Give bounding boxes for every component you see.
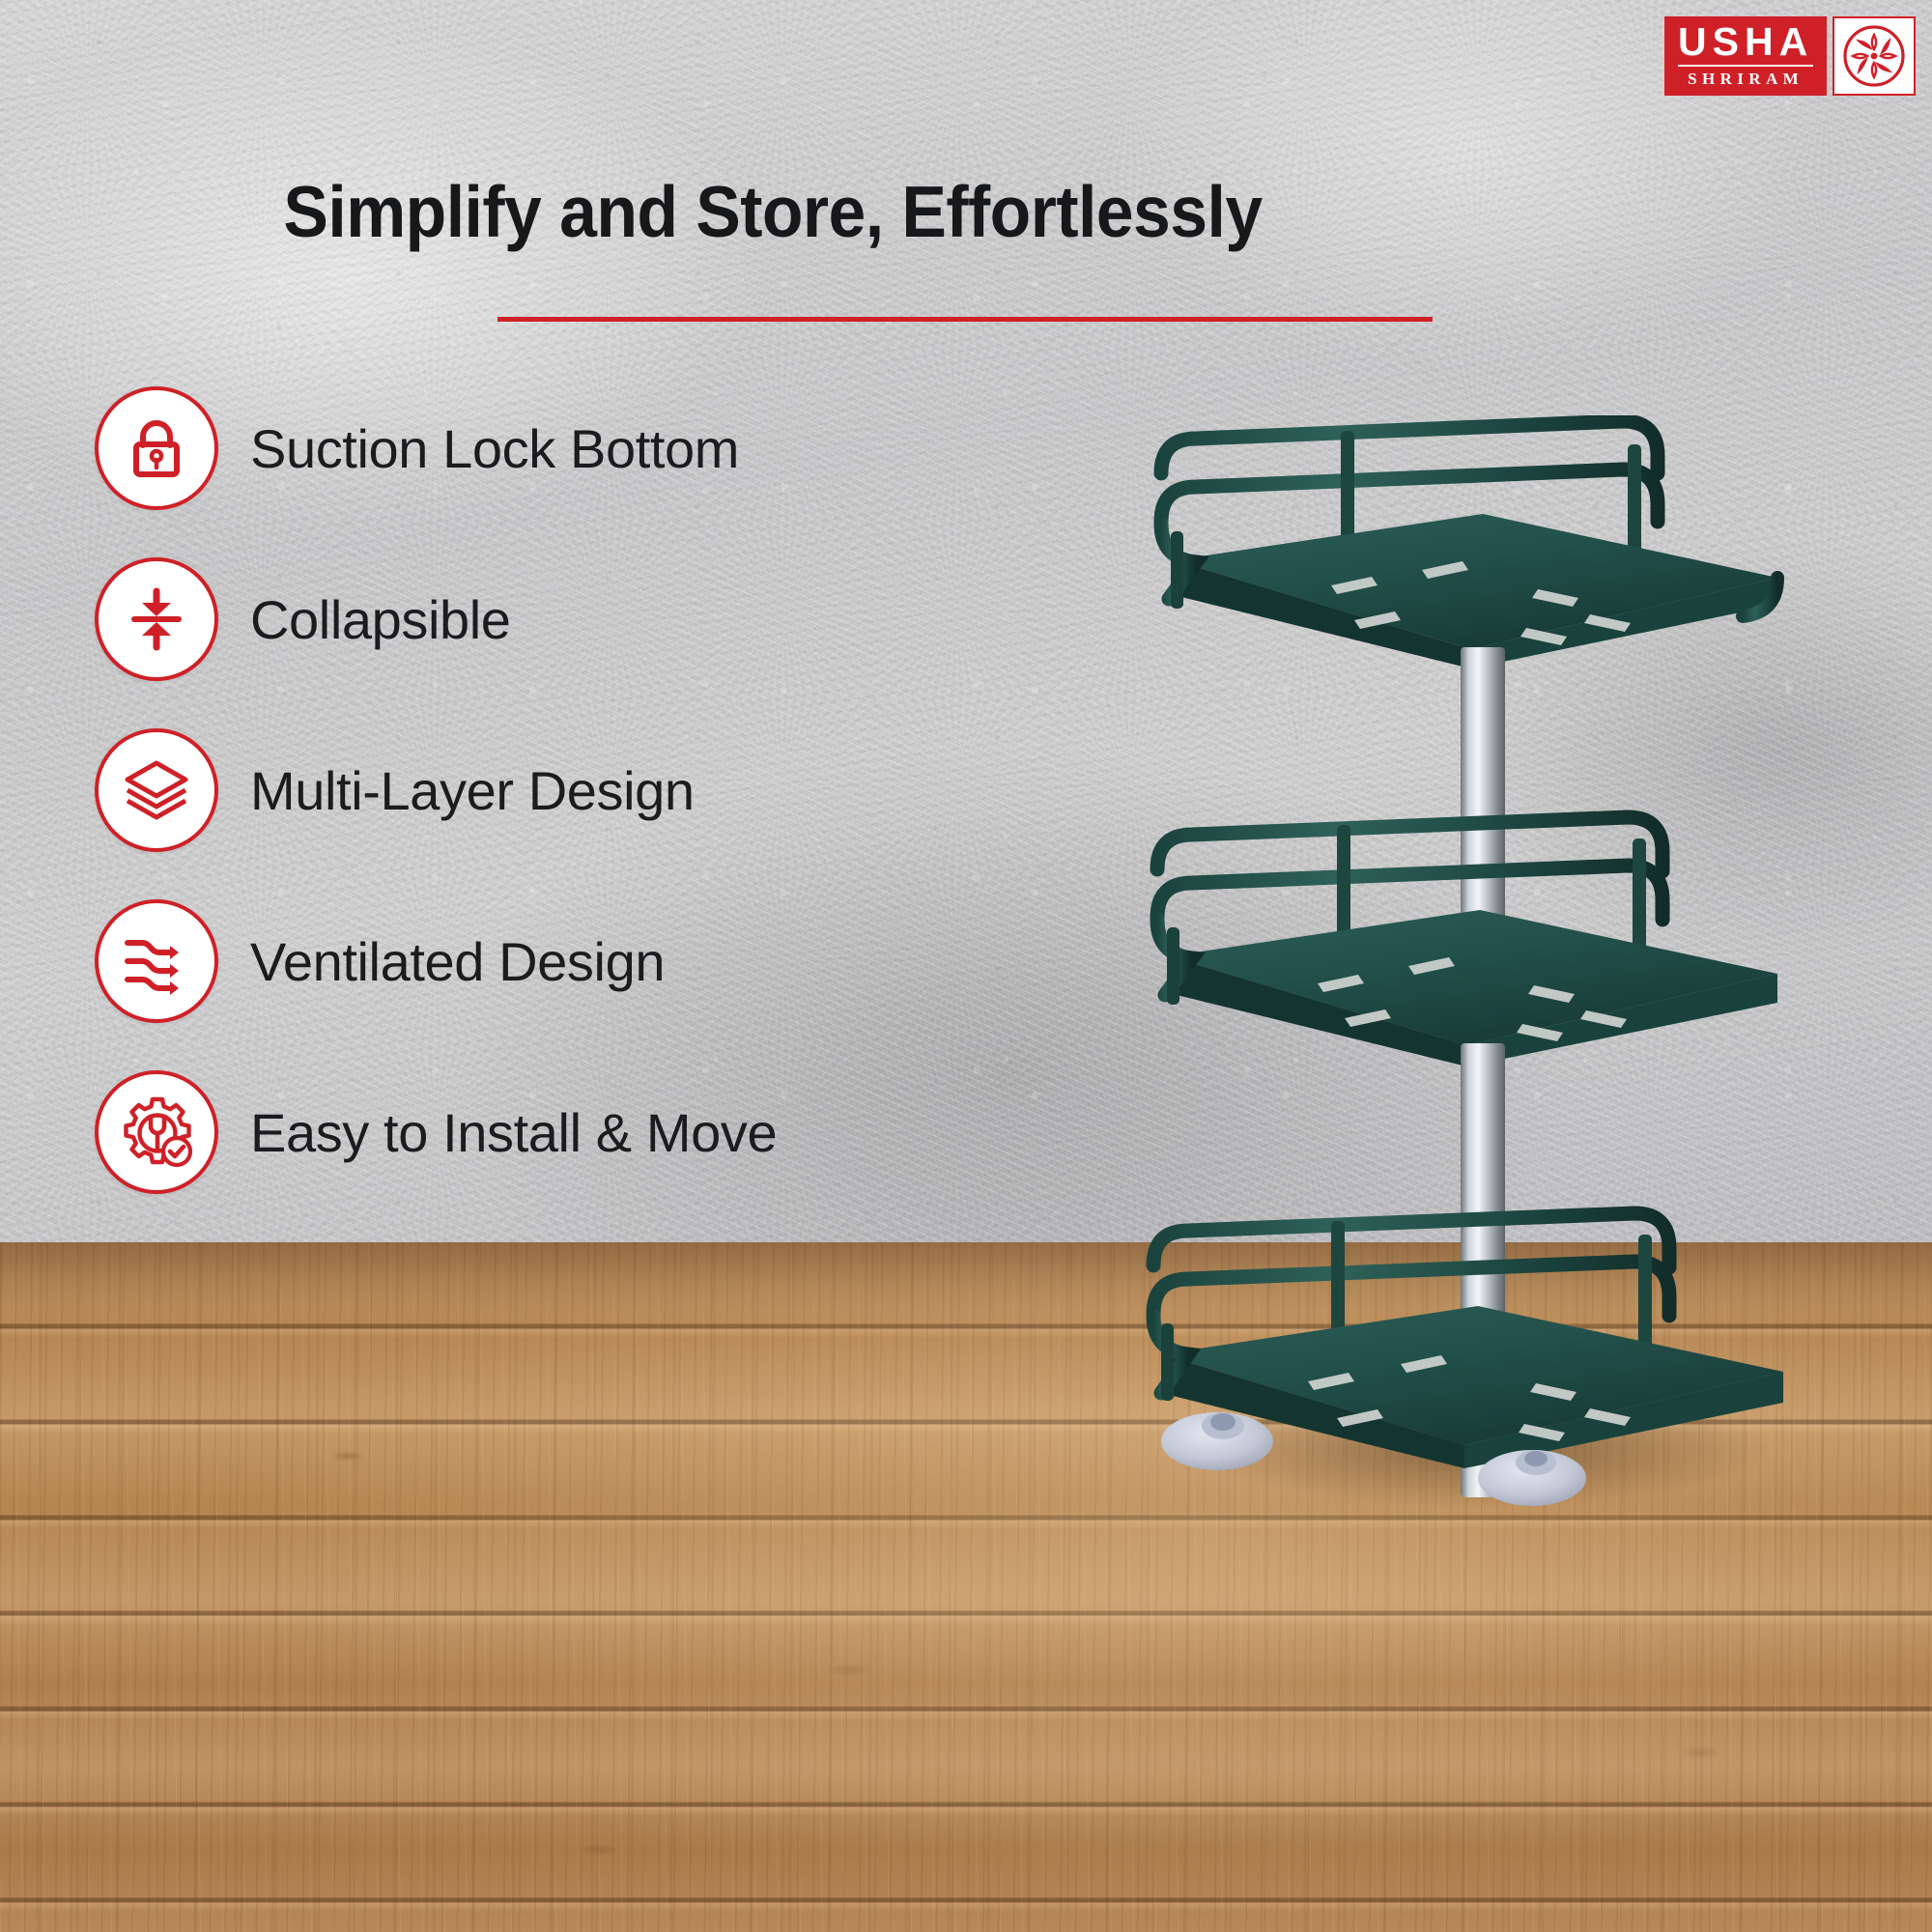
collapse-arrows-icon (95, 557, 218, 681)
feature-item-collapsible: Collapsible (95, 557, 777, 681)
feature-item-multi-layer-design: Multi-Layer Design (95, 728, 777, 852)
suction-cup-left (1161, 1412, 1273, 1470)
brand-name-primary: USHA (1678, 23, 1813, 61)
page-title: Simplify and Store, Effortlessly (54, 170, 1492, 253)
feature-label: Ventilated Design (250, 930, 665, 993)
tray-top-surface (1174, 514, 1777, 649)
feature-list: Suction Lock Bottom Collapsible (95, 386, 777, 1194)
airflow-waves-icon (95, 899, 218, 1023)
feature-label: Easy to Install & Move (250, 1101, 777, 1164)
brand-wordmark: USHA SHRIRAM (1664, 16, 1827, 96)
brand-divider (1678, 65, 1813, 67)
suction-cup-right (1478, 1450, 1586, 1506)
padlock-icon (95, 386, 218, 510)
brand-logo: USHA SHRIRAM (1664, 16, 1916, 96)
tray-middle-surface (1169, 910, 1777, 1045)
feature-item-suction-lock-bottom: Suction Lock Bottom (95, 386, 777, 510)
stacked-layers-icon (95, 728, 218, 852)
feature-label: Collapsible (250, 588, 511, 651)
product-image-three-tier-rotating-rack (1101, 415, 1893, 1768)
title-underline (497, 317, 1433, 322)
gear-wrench-check-icon (95, 1070, 218, 1194)
rack-tier-top (1161, 421, 1777, 668)
marketing-banner: USHA SHRIRAM Simplify and (0, 0, 1932, 1932)
brand-name-secondary: SHRIRAM (1688, 71, 1804, 87)
feature-label: Suction Lock Bottom (250, 417, 739, 480)
feature-label: Multi-Layer Design (250, 759, 695, 822)
usha-sunburst-emblem-icon (1833, 16, 1916, 96)
feature-item-easy-to-install-and-move: Easy to Install & Move (95, 1070, 777, 1194)
feature-item-ventilated-design: Ventilated Design (95, 899, 777, 1023)
